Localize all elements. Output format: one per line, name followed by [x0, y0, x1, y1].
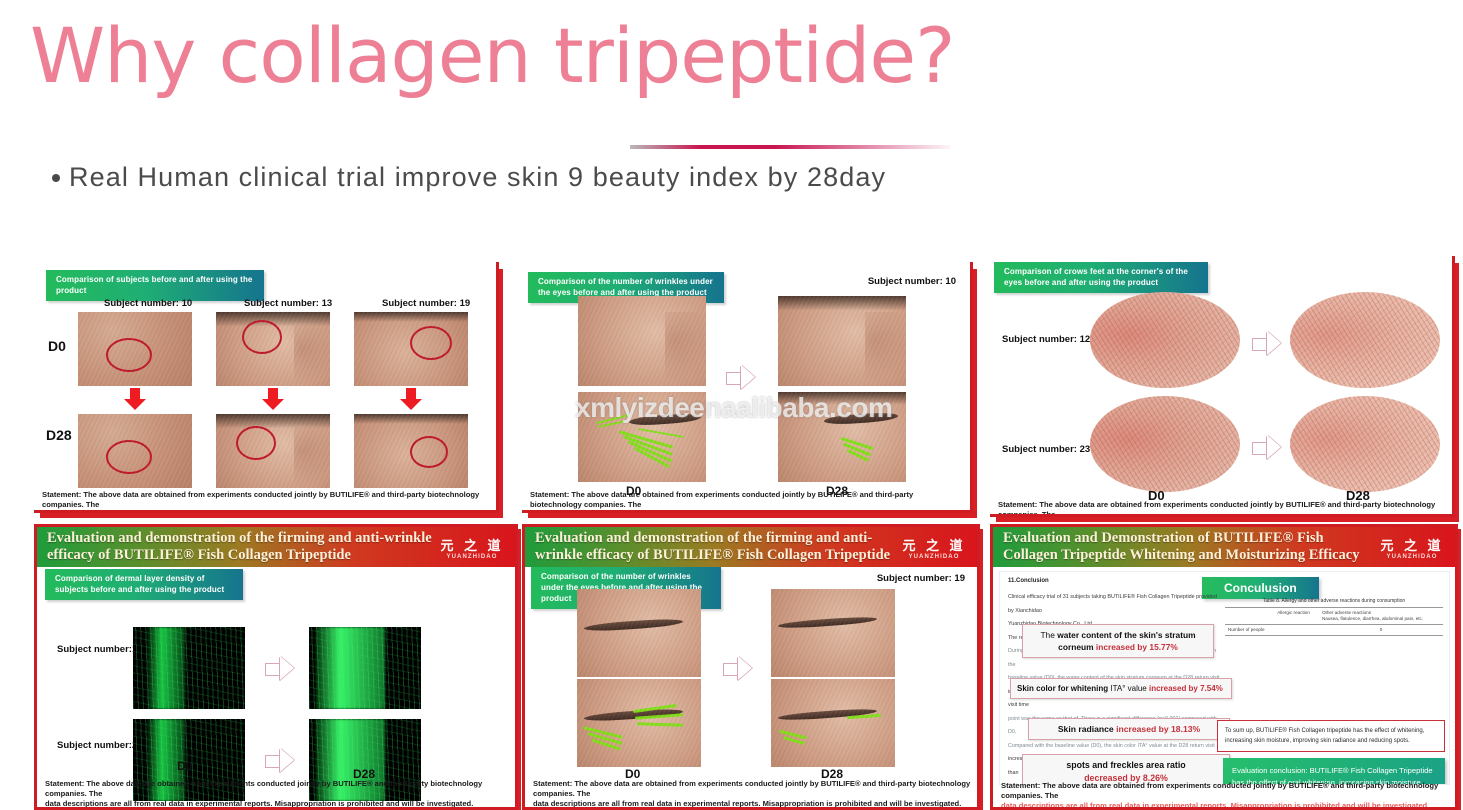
- crows-feet-d0-subject12: [1090, 292, 1240, 388]
- table-cell: 0: [1319, 625, 1443, 636]
- summary-box: To sum up, BUTILIFE® Fish Collagen tripe…: [1217, 720, 1445, 752]
- title-divider: [630, 145, 950, 149]
- page-title: Why collagen tripeptide?: [30, 16, 955, 96]
- statement-line-2: data descriptions are all from real data…: [533, 799, 971, 809]
- eye-photo-d28-plain: [771, 589, 895, 677]
- eye-photo-d28-plain: [778, 296, 906, 386]
- panel-wrinkle-count-subject19: Evaluation and demonstration of the firm…: [522, 524, 980, 810]
- table-header-cell: Other adverse reactions Nausea, flatulen…: [1319, 608, 1443, 625]
- skin-photo-d0-subject10: [78, 312, 192, 386]
- callout-bold: spots and freckles area ratio: [1066, 760, 1185, 770]
- doc-paragraph: Clinical efficacy trial of 31 subjects t…: [1008, 591, 1223, 618]
- logo-en-text: YUANZHIDAO: [435, 554, 509, 560]
- statement-text: Statement: The above data are obtained f…: [45, 779, 509, 809]
- skin-photo-d0-subject19: [354, 312, 468, 386]
- brand-logo: 元 之 道 YUANZHIDAO: [435, 535, 515, 560]
- table-cell: Number of people: [1225, 625, 1274, 636]
- bullet-icon: [52, 174, 60, 182]
- skin-photo-d28-subject10: [78, 414, 192, 488]
- logo-en-text: YUANZHIDAO: [897, 554, 971, 560]
- subtitle-row: Real Human clinical trial improve skin 9…: [52, 162, 886, 193]
- statement-line-1: Statement: The above data are obtained f…: [1001, 781, 1449, 801]
- logo-cn-text: 元 之 道: [1375, 535, 1449, 554]
- callout-skin-radiance: Skin radiance increased by 18.13%: [1028, 718, 1230, 740]
- callout-pct: increased by 18.13%: [1116, 724, 1200, 734]
- eye-photo-d28-marked: [771, 679, 895, 767]
- eye-photo-d28-marked: [778, 392, 906, 482]
- callout-skin-color: Skin color for whitening ITA° value incr…: [1010, 678, 1232, 699]
- eye-photo-d0-plain: [577, 589, 701, 677]
- row-label-d28: D28: [46, 427, 72, 443]
- subject-label: Subject number: 10: [104, 298, 192, 309]
- statement-line-2: data descriptions are all from real data…: [42, 510, 490, 513]
- table-header-cell: Allergic reaction: [1274, 608, 1319, 625]
- panel-4-header-title: Evaluation and demonstration of the firm…: [37, 530, 435, 564]
- doc-heading: 11.Conclusion: [1008, 578, 1223, 584]
- statement-line-1: Statement: The above data are obtained f…: [533, 779, 971, 799]
- statement-line-1: Statement: The above data are obtained f…: [530, 490, 964, 510]
- dermal-image-d28-subject12: [309, 627, 421, 709]
- subject-label: Subject number: 19: [877, 573, 965, 584]
- subject-label: Subject number:12: [57, 644, 143, 655]
- crows-feet-d28-subject23: [1290, 396, 1440, 492]
- table-header-cell: [1225, 608, 1274, 625]
- subject-label: Subject number: 19: [382, 298, 470, 309]
- panel-4-caption: Comparison of dermal layer density of su…: [45, 569, 243, 600]
- panel-6-header-title: Evaluation and Demonstration of BUTILIFE…: [993, 530, 1375, 564]
- subject-label: Subject number: 23: [1002, 444, 1090, 455]
- dermal-image-d0-subject12: [133, 627, 245, 709]
- statement-text: Statement: The above data are obtained f…: [533, 779, 971, 809]
- statement-text: Statement: The above data are obtained f…: [530, 490, 964, 513]
- panel-4-header: Evaluation and demonstration of the firm…: [37, 527, 515, 567]
- logo-en-text: YUANZHIDAO: [1375, 554, 1449, 560]
- statement-text: Statement: The above data are obtained f…: [998, 500, 1446, 517]
- eye-photo-d0-marked: [578, 392, 706, 482]
- adverse-reactions-table: Table 8. Allergy and other adverse react…: [1225, 598, 1443, 636]
- statement-line-1: Statement: The above data are obtained f…: [45, 779, 509, 799]
- subject-label: Subject number: 10: [868, 276, 956, 287]
- statement-line-2: data descriptions are all from real data…: [1001, 801, 1449, 810]
- conclusion-document: Conculusion 11.Conclusion Clinical effic…: [999, 571, 1450, 785]
- subject-label: Subject number: 12: [1002, 334, 1090, 345]
- subject-label: Subject number: 13: [244, 298, 332, 309]
- skin-photo-d28-subject19: [354, 414, 468, 488]
- panel-5-header-title: Evaluation and demonstration of the firm…: [525, 530, 897, 564]
- panel-6-header: Evaluation and Demonstration of BUTILIFE…: [993, 527, 1455, 567]
- panel-subject-comparison: Comparison of subjects before and after …: [34, 262, 499, 513]
- statement-line-2: data descriptions are all from real data…: [530, 510, 964, 513]
- skin-photo-d28-subject13: [216, 414, 330, 488]
- panel-1-caption: Comparison of subjects before and after …: [46, 270, 264, 301]
- logo-cn-text: 元 之 道: [897, 535, 971, 554]
- panel-crows-feet: Comparison of crows feet at the corner's…: [990, 256, 1455, 517]
- table-cell: [1274, 625, 1319, 636]
- subtitle-text: Real Human clinical trial improve skin 9…: [69, 162, 886, 193]
- panel-whitening-conclusion: Evaluation and Demonstration of BUTILIFE…: [990, 524, 1458, 810]
- crows-feet-d0-subject23: [1090, 396, 1240, 492]
- table-caption: Table 8. Allergy and other adverse react…: [1225, 598, 1443, 604]
- statement-text: Statement: The above data are obtained f…: [42, 490, 490, 513]
- logo-cn-text: 元 之 道: [435, 535, 509, 554]
- panel-wrinkle-count-subject10: Comparison of the number of wrinkles und…: [522, 262, 973, 513]
- statement-line-1: Statement: The above data are obtained f…: [998, 500, 1446, 517]
- skin-photo-d0-subject13: [216, 312, 330, 386]
- subject-label: Subject number:23: [57, 740, 143, 751]
- brand-logo: 元 之 道 YUANZHIDAO: [897, 535, 977, 560]
- statement-line-2: data descriptions are all from real data…: [45, 799, 509, 809]
- eye-photo-d0-marked: [577, 679, 701, 767]
- callout-pct: increased by 7.54%: [1149, 684, 1223, 693]
- brand-logo: 元 之 道 YUANZHIDAO: [1375, 535, 1455, 560]
- callout-bold: Skin radiance: [1058, 724, 1116, 734]
- callout-bold: Skin color for whitening: [1017, 684, 1108, 693]
- statement-text: Statement: The above data are obtained f…: [1001, 781, 1449, 810]
- callout-water-content: The water content of the skin's stratum …: [1022, 624, 1214, 658]
- row-label-d0: D0: [48, 338, 66, 354]
- table-row: Number of people 0: [1225, 625, 1443, 636]
- table-header-row: Allergic reaction Other adverse reaction…: [1225, 608, 1443, 625]
- label-d0: D0: [177, 759, 192, 773]
- callout-pct: increased by 15.77%: [1096, 642, 1178, 652]
- callout-prefix: The: [1040, 630, 1057, 640]
- doc-paragraph: Compared with the baseline value (D0), t…: [1008, 740, 1223, 754]
- panel-dermal-density: Evaluation and demonstration of the firm…: [34, 524, 518, 810]
- statement-line-1: Statement: The above data are obtained f…: [42, 490, 490, 510]
- eye-photo-d0-plain: [578, 296, 706, 386]
- callout-mid: ITA° value: [1108, 684, 1149, 693]
- panel-5-header: Evaluation and demonstration of the firm…: [525, 527, 977, 567]
- crows-feet-d28-subject12: [1290, 292, 1440, 388]
- panel-3-caption: Comparison of crows feet at the corner's…: [994, 262, 1208, 293]
